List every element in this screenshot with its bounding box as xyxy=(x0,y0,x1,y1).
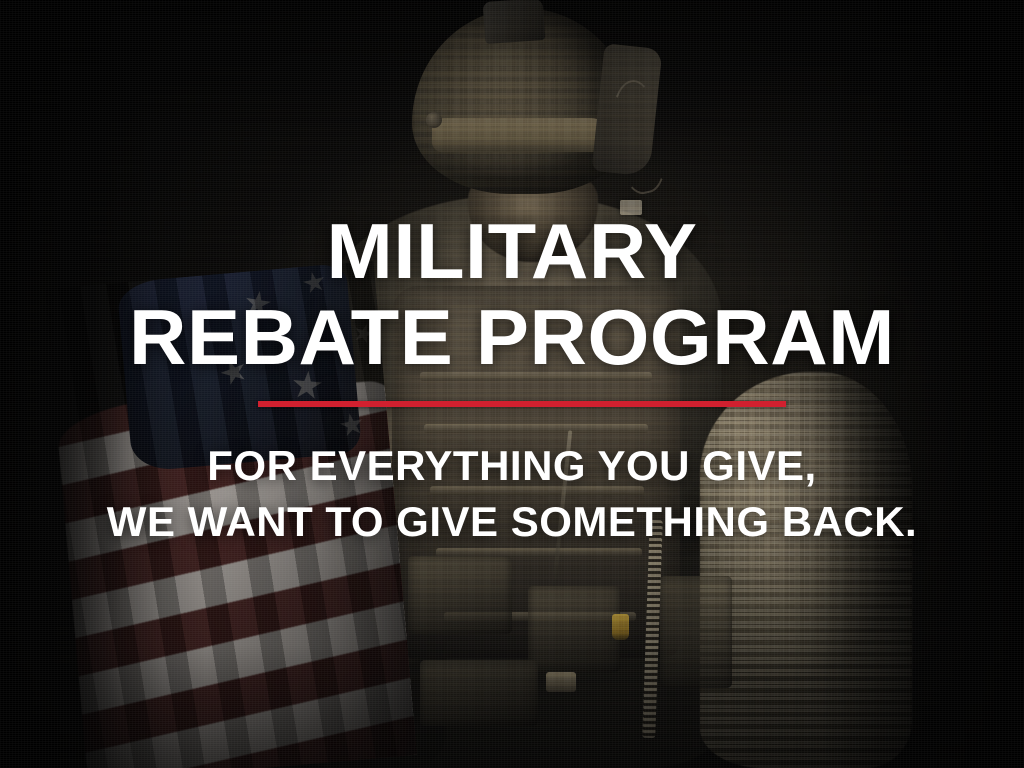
military-rebate-program-banner: MILITARY REBATE PROGRAM FOR EVERYTHING Y… xyxy=(0,0,1024,768)
red-divider-rule xyxy=(258,401,786,407)
subtitle-line-2: WE WANT TO GIVE SOMETHING BACK. xyxy=(0,502,1024,542)
headline-line-2: REBATE PROGRAM xyxy=(0,300,1024,375)
subtitle-line-1: FOR EVERYTHING YOU GIVE, xyxy=(0,446,1024,486)
headline-line-1: MILITARY xyxy=(0,214,1024,289)
text-overlay: MILITARY REBATE PROGRAM FOR EVERYTHING Y… xyxy=(0,0,1024,768)
